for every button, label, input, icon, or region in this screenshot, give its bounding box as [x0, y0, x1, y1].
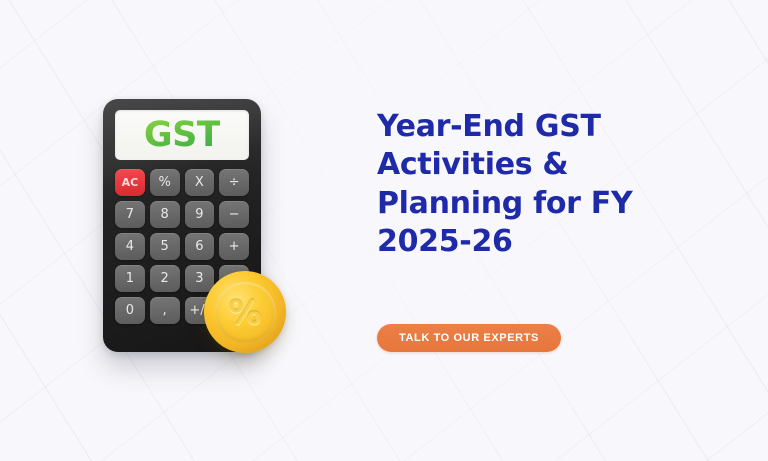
- calc-key-ac[interactable]: AC: [115, 169, 145, 196]
- calc-key-multiply[interactable]: X: [185, 169, 215, 196]
- calculator-display: GST: [115, 110, 249, 160]
- calc-key-6[interactable]: 6: [185, 233, 215, 260]
- calc-key-0[interactable]: 0: [115, 297, 145, 324]
- gst-promo-banner: GST AC % X ÷ 7 8 9 − 4 5 6 + 1 2 3 = 0: [0, 0, 768, 461]
- calc-key-8[interactable]: 8: [150, 201, 180, 228]
- percent-coin-icon: %: [204, 271, 286, 353]
- calc-key-2[interactable]: 2: [150, 265, 180, 292]
- calc-key-divide[interactable]: ÷: [219, 169, 249, 196]
- calc-key-minus[interactable]: −: [219, 201, 249, 228]
- calc-key-4[interactable]: 4: [115, 233, 145, 260]
- calc-key-percent[interactable]: %: [150, 169, 180, 196]
- calculator-display-text: GST: [144, 118, 220, 153]
- calc-key-7[interactable]: 7: [115, 201, 145, 228]
- calc-key-plus[interactable]: +: [219, 233, 249, 260]
- percent-symbol: %: [228, 296, 261, 329]
- calc-key-3[interactable]: 3: [185, 265, 215, 292]
- headline-block: Year-End GST Activities & Planning for F…: [377, 108, 677, 262]
- talk-to-our-experts-button[interactable]: TALK TO OUR EXPERTS: [377, 324, 561, 352]
- calc-key-1[interactable]: 1: [115, 265, 145, 292]
- calc-key-5[interactable]: 5: [150, 233, 180, 260]
- calc-key-comma[interactable]: ,: [150, 297, 180, 324]
- percent-coin-inner: %: [215, 282, 276, 343]
- cta-row: TALK TO OUR EXPERTS: [377, 324, 561, 352]
- page-title: Year-End GST Activities & Planning for F…: [377, 108, 677, 262]
- calc-key-9[interactable]: 9: [185, 201, 215, 228]
